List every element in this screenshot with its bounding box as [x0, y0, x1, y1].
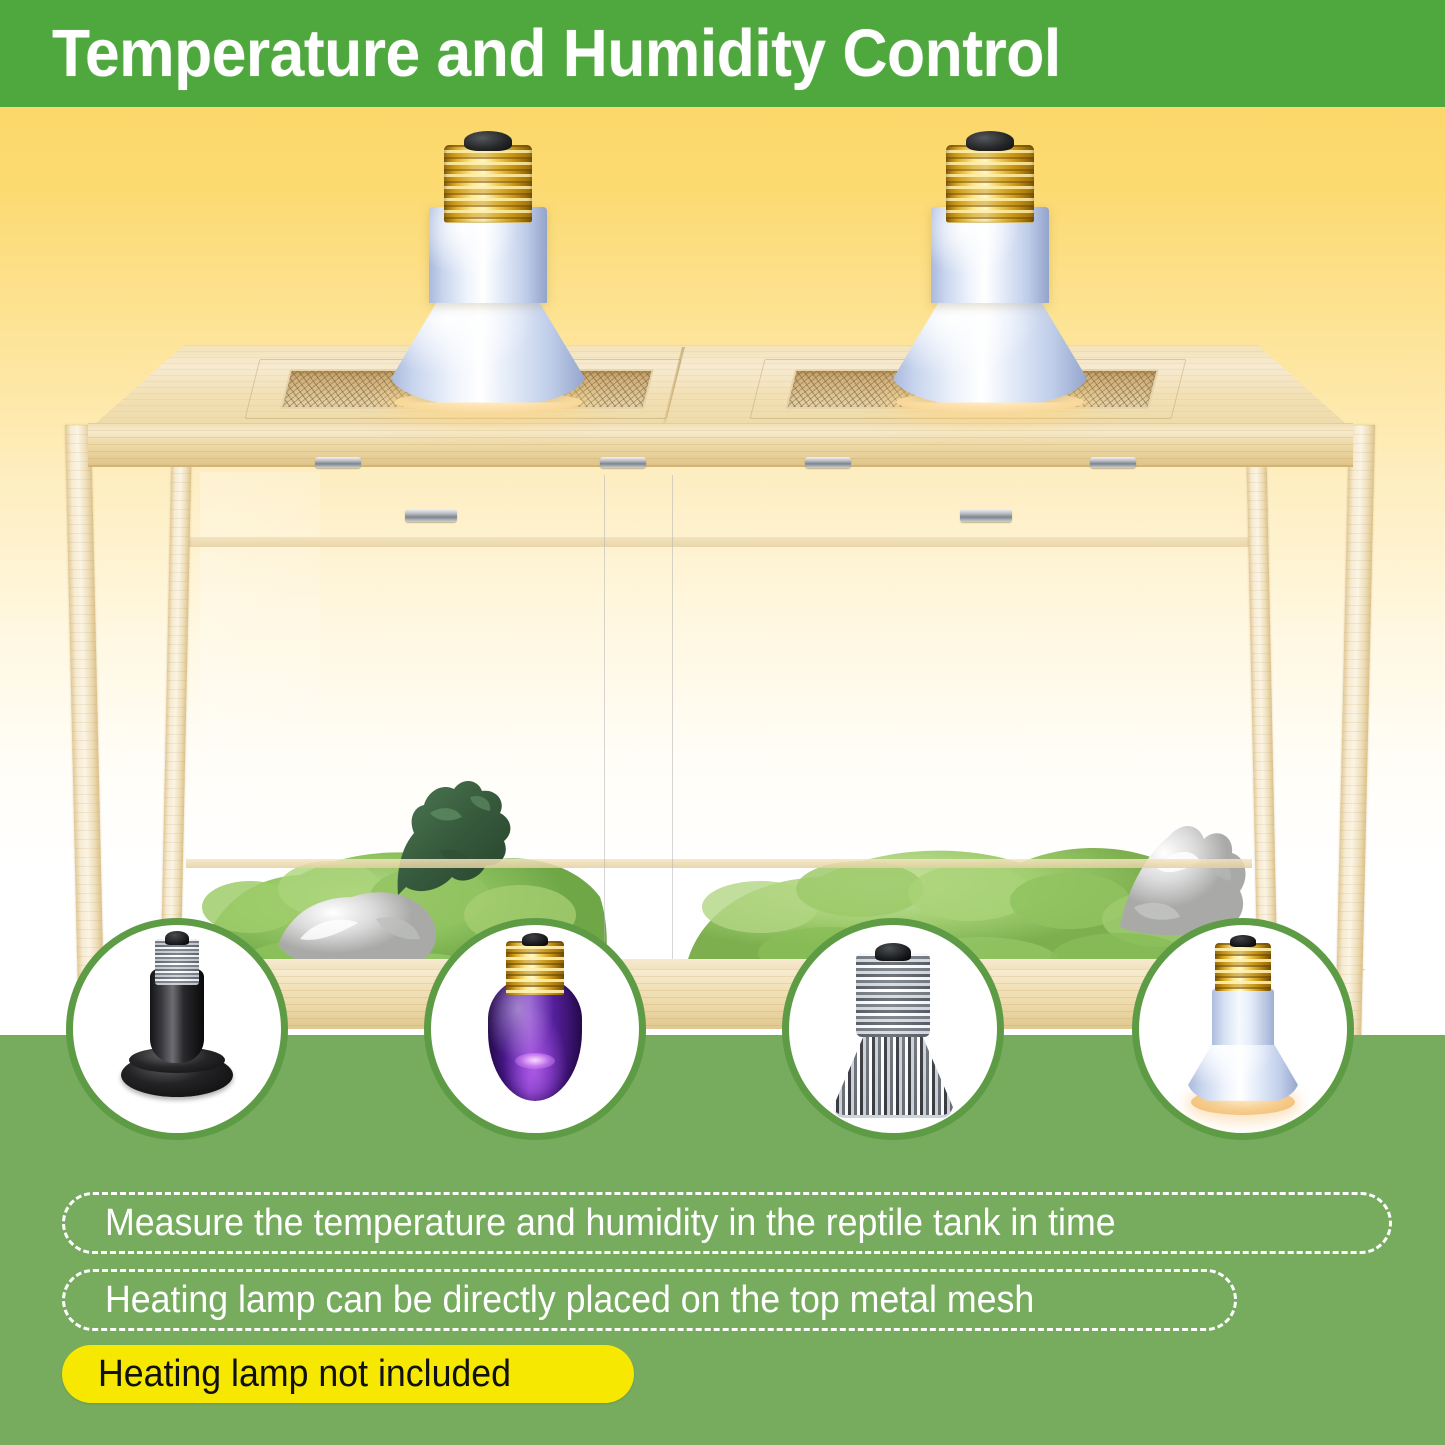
back-rail-lower — [186, 859, 1252, 868]
right-heat-lamp-screw-cap — [946, 145, 1034, 223]
purple-night-bulb-contact-tip — [522, 933, 548, 946]
page-title: Temperature and Humidity Control — [52, 15, 1061, 92]
terrarium-illustration — [0, 107, 1445, 1037]
left-heat-lamp-contact-tip — [464, 131, 512, 151]
purple-night-bulb-screw-cap — [506, 941, 564, 995]
purple-night-bulb-glass — [488, 977, 582, 1101]
terrarium-interior-scenery — [0, 107, 1445, 1037]
ceramic-heat-emitter-screw-cap — [155, 939, 199, 985]
left-heat-lamp-screw-cap — [444, 145, 532, 223]
lid-hinge — [1090, 457, 1136, 468]
blue-basking-bulb-contact-tip — [1230, 935, 1256, 947]
chrome-halogen-spotlight-reflector — [833, 1029, 953, 1118]
glass-door-seam-left — [604, 475, 605, 1015]
chrome-halogen-spotlight-contact-tip — [875, 943, 911, 961]
lid-hinge — [405, 509, 457, 522]
right-heat-lamp-bell — [892, 295, 1088, 407]
right-heat-lamp-contact-tip — [966, 131, 1014, 151]
glass-door-seam-right — [672, 475, 673, 1015]
lamp-circle-ceramic-heat-emitter[interactable] — [66, 918, 288, 1140]
blue-basking-bulb-screw-cap — [1215, 943, 1271, 991]
chrome-halogen-spotlight-screw-cap — [856, 953, 930, 1037]
infographic-root: Temperature and Humidity Control — [0, 0, 1445, 1445]
caption-box-heating-lamp-placement: Heating lamp can be directly placed on t… — [62, 1269, 1237, 1331]
not-included-badge-text: Heating lamp not included — [98, 1353, 511, 1396]
caption-box-measure: Measure the temperature and humidity in … — [62, 1192, 1392, 1254]
caption-measure-text: Measure the temperature and humidity in … — [105, 1202, 1116, 1245]
lid-hinge — [600, 457, 646, 468]
blue-basking-bulb-bell — [1187, 1035, 1299, 1105]
lamp-circle-blue-basking-bulb[interactable] — [1132, 918, 1354, 1140]
lamp-circle-purple-night-bulb[interactable] — [424, 918, 646, 1140]
hero-photo — [0, 107, 1445, 1037]
right-heat-lamp — [880, 135, 1100, 435]
tank-lid-front-grain — [88, 423, 1353, 465]
lamp-circle-chrome-halogen-spotlight[interactable] — [782, 918, 1004, 1140]
left-heat-lamp — [378, 135, 598, 435]
caption-heating-lamp-placement-text: Heating lamp can be directly placed on t… — [105, 1279, 1034, 1322]
lid-hinge — [315, 457, 361, 468]
purple-night-bulb-filament — [515, 1053, 555, 1069]
left-heat-lamp-bell — [390, 295, 586, 407]
title-banner: Temperature and Humidity Control — [0, 0, 1445, 107]
ceramic-heat-emitter-contact-tip — [165, 931, 189, 945]
lid-hinge — [960, 509, 1012, 522]
blue-basking-bulb-neck — [1212, 989, 1274, 1045]
not-included-badge: Heating lamp not included — [62, 1345, 634, 1403]
lid-hinge — [805, 457, 851, 468]
